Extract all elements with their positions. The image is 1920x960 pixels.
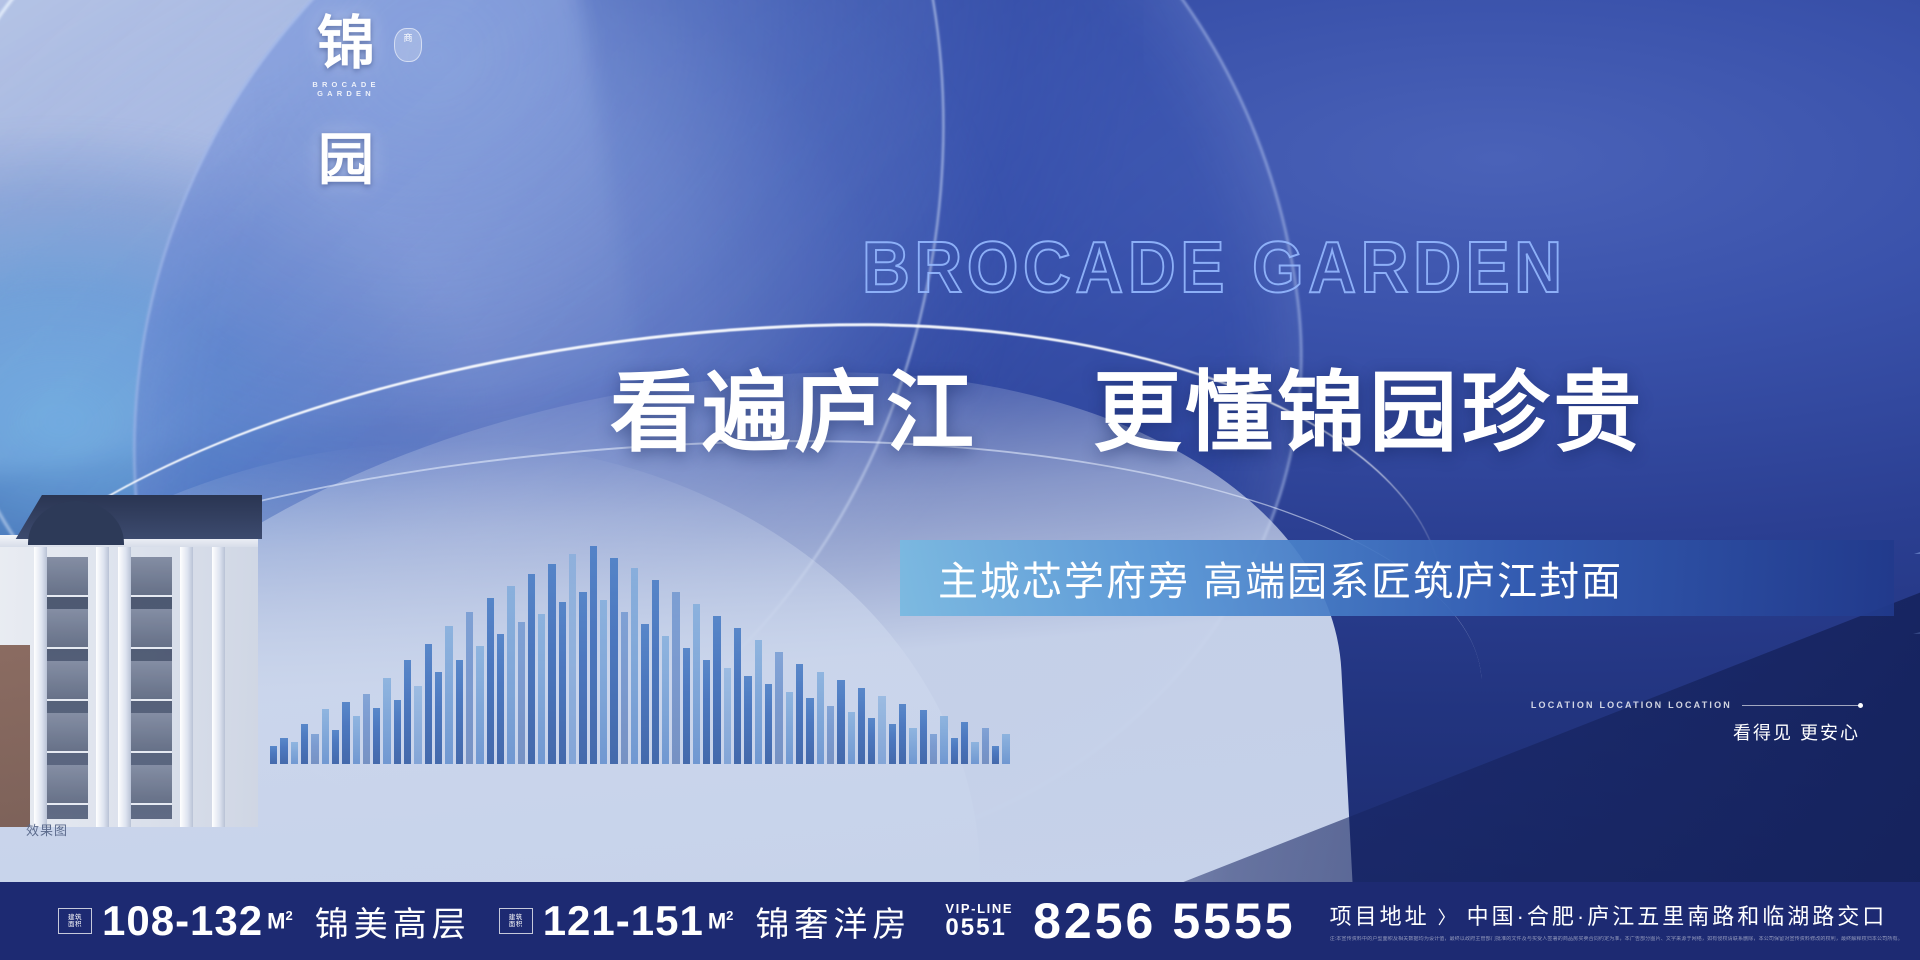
legal-disclaimer: 注:本宣传资料中的户型面积及相关数据均为设计值，最终以政府主管部门批准的文件及与… — [1330, 936, 1903, 943]
brand-logo: 锦 商 BROCADE GARDEN 园 — [286, 14, 406, 174]
location-tagline-cn: 看得见 更安心 — [1531, 719, 1860, 745]
hero-headline: 看遍庐江 更懂锦园珍贵 — [610, 342, 1645, 469]
poster-canvas: 锦 商 BROCADE GARDEN 园 BROCADE GARDEN 看遍庐江… — [0, 0, 1920, 960]
villa-window-bay — [128, 557, 172, 819]
location-tagline-en: LOCATION LOCATION LOCATION — [1531, 700, 1860, 710]
address-value: 中国·合肥·庐江五里南路和临湖路交口 — [1467, 904, 1888, 929]
logo-char-top: 锦 — [286, 14, 406, 72]
vip-line-block[interactable]: VIP-LINE 0551 — [945, 902, 1013, 941]
villa-column — [34, 547, 47, 827]
product-item-1: 建筑 面积 108-132 M2 锦美高层 — [0, 897, 471, 946]
villa-column — [96, 547, 109, 827]
product-area-2: 121-151 — [543, 897, 704, 945]
product-unit-1: M2 — [267, 908, 293, 934]
logo-char-bottom: 园 — [286, 132, 406, 188]
vip-line-label: VIP-LINE — [945, 902, 1013, 916]
area-code: 0551 — [945, 915, 1013, 940]
chevron-right-icon: 〉 — [1438, 908, 1459, 928]
villa-column — [212, 547, 225, 827]
product-area-1: 108-132 — [102, 897, 263, 945]
phone-part-1: 8256 — [1033, 893, 1156, 949]
phone-number[interactable]: 82565555 — [1033, 892, 1295, 950]
logo-english: BROCADE GARDEN — [286, 80, 406, 98]
address-label: 项目地址 — [1330, 904, 1430, 929]
product-name-1: 锦美高层 — [315, 897, 471, 946]
hero-subtitle: 主城芯学府旁 高端园系匠筑庐江封面 — [900, 549, 1623, 607]
product-unit-2: M2 — [708, 908, 734, 934]
address-line: 项目地址〉中国·合肥·庐江五里南路和临湖路交口 — [1330, 899, 1903, 931]
artwork-background: 锦 商 BROCADE GARDEN 园 BROCADE GARDEN 看遍庐江… — [0, 0, 1920, 882]
footer-bar: 建筑 面积 108-132 M2 锦美高层 建筑 面积 121-151 M2 锦… — [0, 882, 1920, 960]
villa-illustration — [0, 495, 300, 825]
headline-left: 看遍庐江 — [610, 360, 978, 464]
villa-column — [180, 547, 193, 827]
product-name-2: 锦奢洋房 — [755, 897, 911, 946]
hero-english-title: BROCADE GARDEN — [862, 232, 1567, 304]
tagline-rule-icon — [1742, 705, 1860, 706]
address-block: 项目地址〉中国·合肥·庐江五里南路和临湖路交口 注:本宣传资料中的户型面积及相关… — [1330, 899, 1903, 943]
villa-brick-wall — [0, 645, 30, 827]
area-badge-icon: 建筑 面积 — [499, 908, 533, 934]
logo-seal-stamp-icon: 商 — [394, 28, 422, 62]
location-tagline: LOCATION LOCATION LOCATION 看得见 更安心 — [1531, 700, 1860, 745]
villa-window-bay — [44, 557, 88, 819]
phone-part-2: 5555 — [1172, 893, 1295, 949]
area-badge-icon: 建筑 面积 — [58, 908, 92, 934]
hero-subtitle-band: 主城芯学府旁 高端园系匠筑庐江封面 — [900, 540, 1894, 616]
villa-column — [118, 547, 131, 827]
headline-right: 更懂锦园珍贵 — [1093, 360, 1645, 464]
location-tagline-en-text: LOCATION LOCATION LOCATION — [1531, 700, 1732, 710]
product-item-2: 建筑 面积 121-151 M2 锦奢洋房 — [499, 897, 912, 946]
render-disclaimer: 效果图 — [26, 820, 68, 839]
